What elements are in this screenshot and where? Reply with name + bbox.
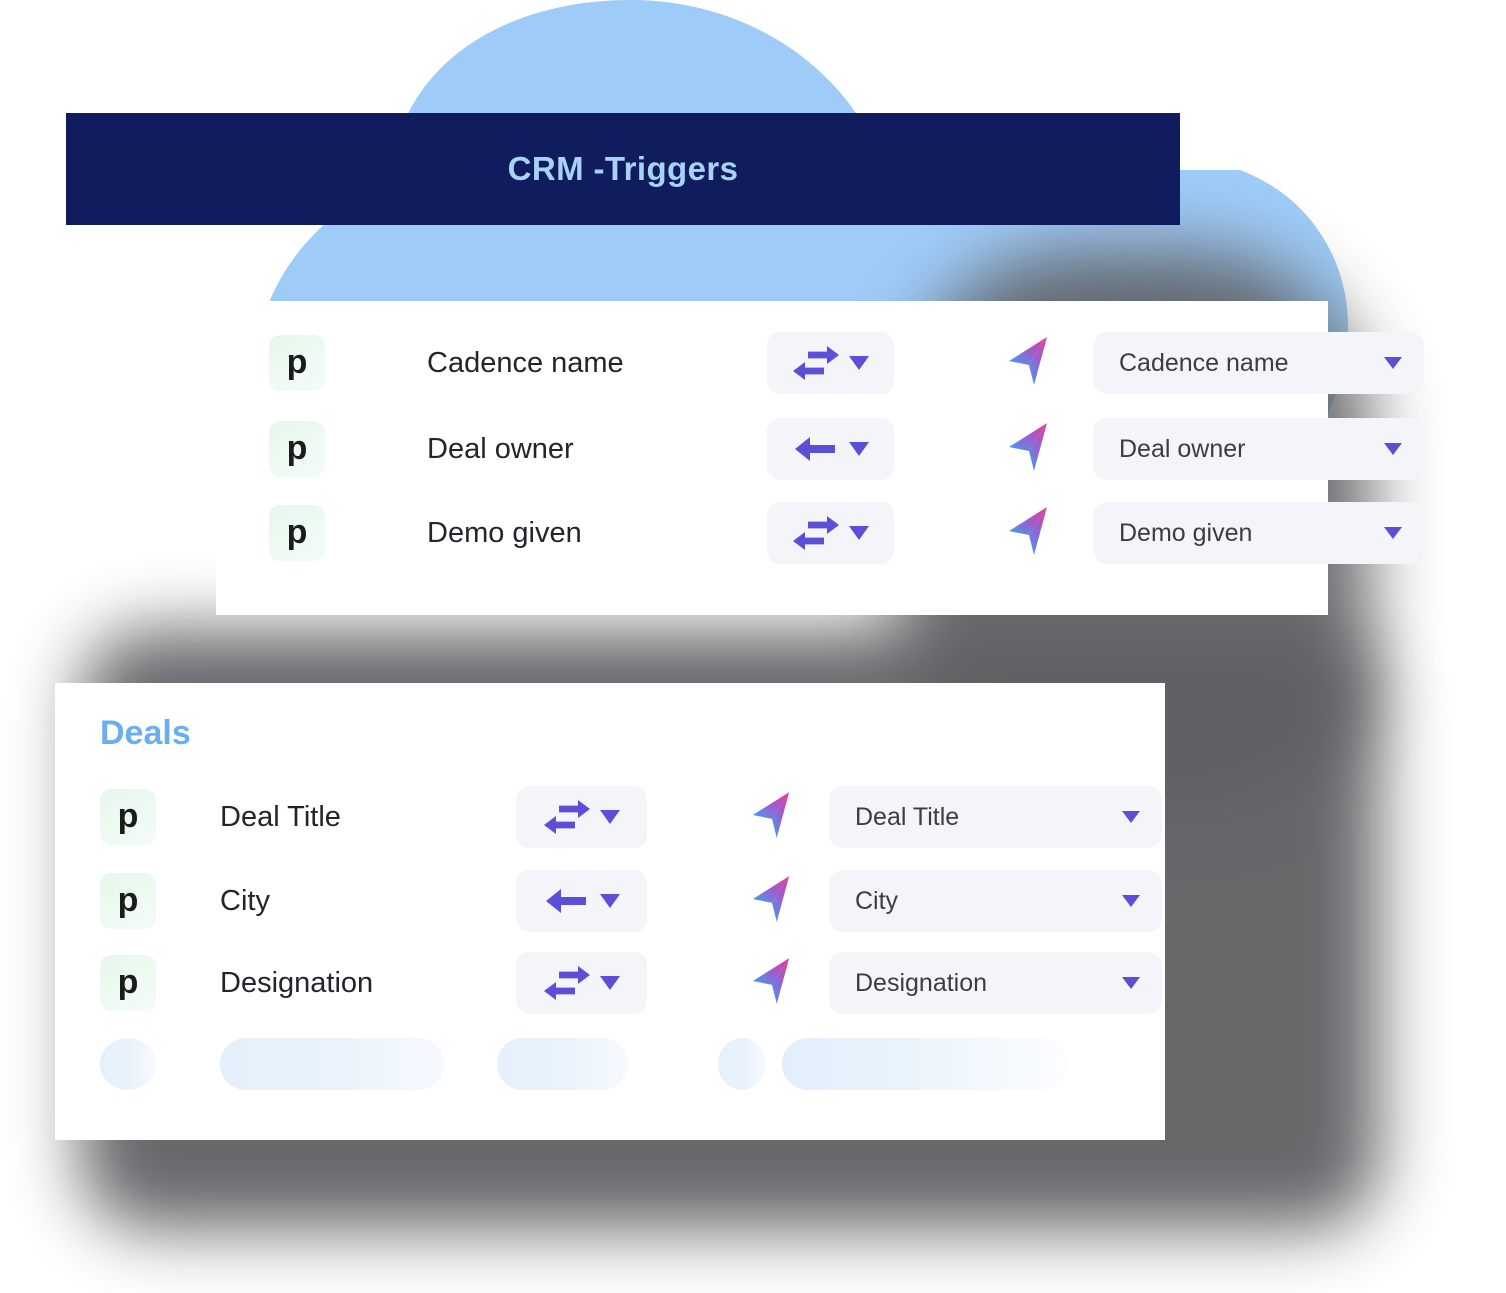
- deals-card: Deals p Deal Title: [55, 683, 1165, 1140]
- bidirectional-arrow-icon: [544, 800, 590, 834]
- pipedrive-badge-icon: p: [100, 873, 156, 929]
- chevron-down-icon: [600, 810, 620, 824]
- paper-plane-icon: [751, 874, 793, 929]
- target-field-value: Cadence name: [1119, 349, 1289, 378]
- source-field-label: Deal owner: [427, 433, 727, 466]
- direction-chip[interactable]: [516, 786, 647, 848]
- bidirectional-arrow-icon: [544, 966, 590, 1000]
- bidirectional-arrow-icon: [793, 516, 839, 550]
- target-field-value: Deal Title: [855, 803, 959, 832]
- chevron-down-icon: [1384, 527, 1402, 539]
- pipedrive-badge-icon: p: [269, 505, 325, 561]
- skeleton-plane-placeholder: [718, 1038, 766, 1090]
- chevron-down-icon: [849, 526, 869, 540]
- pipedrive-badge-icon: p: [100, 955, 156, 1011]
- mapping-row[interactable]: p City City: [100, 870, 1162, 932]
- source-field-label: Designation: [220, 967, 500, 1000]
- chevron-down-icon: [600, 894, 620, 908]
- skeleton-direction-placeholder: [497, 1038, 628, 1090]
- source-field-label: City: [220, 885, 500, 918]
- chevron-down-icon: [1122, 895, 1140, 907]
- deals-heading: Deals: [100, 714, 191, 753]
- target-field-select[interactable]: Demo given: [1093, 502, 1424, 564]
- source-field-label: Cadence name: [427, 347, 727, 380]
- paper-plane-icon: [1007, 335, 1051, 392]
- target-field-value: Demo given: [1119, 519, 1252, 548]
- chevron-down-icon: [1384, 443, 1402, 455]
- direction-chip[interactable]: [767, 332, 894, 394]
- skeleton-badge-placeholder: [100, 1038, 156, 1090]
- mapping-row[interactable]: p Deal Title Deal Title: [100, 786, 1162, 848]
- chevron-down-icon: [849, 442, 869, 456]
- source-field-label: Deal Title: [220, 801, 500, 834]
- target-field-value: Deal owner: [1119, 435, 1245, 464]
- mapping-row[interactable]: p Deal owner Deal owner: [269, 418, 1424, 480]
- target-field-value: City: [855, 887, 898, 916]
- target-field-select[interactable]: Cadence name: [1093, 332, 1424, 394]
- triggers-card: p Cadence name Cadence name: [216, 301, 1328, 615]
- crm-triggers-titlebar: CRM -Triggers: [66, 113, 1180, 225]
- chevron-down-icon: [600, 976, 620, 990]
- chevron-down-icon: [849, 356, 869, 370]
- skeleton-row: [100, 1038, 1067, 1090]
- paper-plane-icon: [751, 956, 793, 1011]
- target-field-value: Designation: [855, 969, 987, 998]
- pipedrive-badge-icon: p: [269, 421, 325, 477]
- chevron-down-icon: [1122, 977, 1140, 989]
- page-root: CRM -Triggers p Cadence name: [0, 0, 1506, 1293]
- chevron-down-icon: [1122, 811, 1140, 823]
- source-field-label: Demo given: [427, 517, 727, 550]
- direction-chip[interactable]: [767, 502, 894, 564]
- chevron-down-icon: [1384, 357, 1402, 369]
- paper-plane-icon: [1007, 505, 1051, 562]
- pipedrive-badge-icon: p: [100, 789, 156, 845]
- direction-chip[interactable]: [516, 870, 647, 932]
- mapping-row[interactable]: p Designation Designation: [100, 952, 1162, 1014]
- bidirectional-arrow-icon: [793, 346, 839, 380]
- skeleton-label-placeholder: [220, 1038, 445, 1090]
- target-field-select[interactable]: City: [829, 870, 1162, 932]
- mapping-row[interactable]: p Cadence name Cadence name: [269, 332, 1424, 394]
- direction-chip[interactable]: [516, 952, 647, 1014]
- pipedrive-badge-icon: p: [269, 335, 325, 391]
- target-field-select[interactable]: Deal owner: [1093, 418, 1424, 480]
- page-title: CRM -Triggers: [508, 150, 739, 188]
- skeleton-select-placeholder: [782, 1038, 1067, 1090]
- paper-plane-icon: [1007, 421, 1051, 478]
- direction-chip[interactable]: [767, 418, 894, 480]
- left-arrow-icon: [793, 432, 839, 466]
- paper-plane-icon: [751, 790, 793, 845]
- left-arrow-icon: [544, 884, 590, 918]
- target-field-select[interactable]: Designation: [829, 952, 1162, 1014]
- target-field-select[interactable]: Deal Title: [829, 786, 1162, 848]
- mapping-row[interactable]: p Demo given Demo given: [269, 502, 1424, 564]
